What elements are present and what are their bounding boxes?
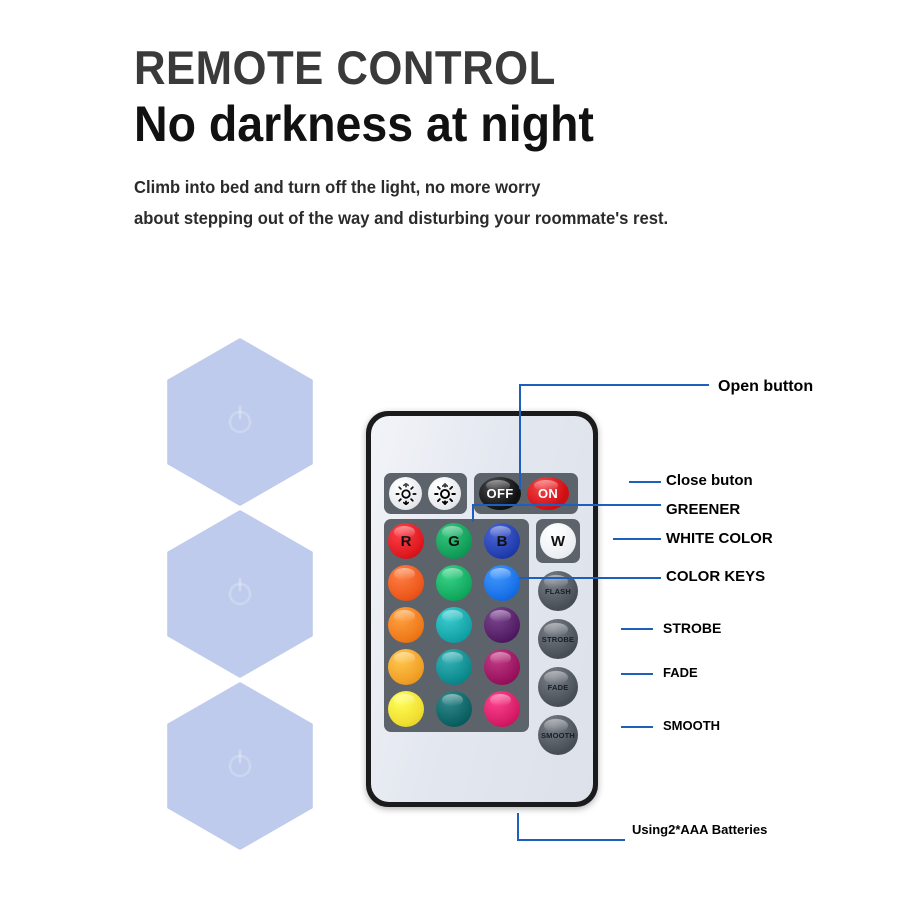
annotation-fade: FADE <box>663 666 698 679</box>
body-line-2: about stepping out of the way and distur… <box>134 203 818 234</box>
brightness-down-button[interactable] <box>389 477 422 510</box>
remote-control: OFF ON RGB W FLASH STROBE FADE SMOOTH <box>366 411 598 807</box>
remote-faceplate: OFF ON RGB W FLASH STROBE FADE SMOOTH <box>371 416 593 802</box>
leader-line-fade <box>621 673 653 675</box>
leader-line-batteries <box>517 839 625 841</box>
sun-dim-icon <box>395 483 417 505</box>
color-key[interactable] <box>436 607 472 643</box>
color-key[interactable] <box>436 565 472 601</box>
annotation-close-button: Close buton <box>666 473 753 488</box>
leader-line-color-keys <box>519 577 661 579</box>
leader-line-close-button <box>629 481 661 483</box>
leader-line-greener <box>472 504 474 522</box>
annotation-white-color: WHITE COLOR <box>666 531 773 546</box>
color-key[interactable] <box>436 649 472 685</box>
leader-line-white-color <box>613 538 661 540</box>
body-text: Climb into bed and turn off the light, n… <box>134 172 854 233</box>
color-key-g[interactable]: G <box>436 523 472 559</box>
sun-bright-icon <box>434 483 456 505</box>
strobe-button[interactable]: STROBE <box>538 619 578 659</box>
annotation-greener: GREENER <box>666 502 740 517</box>
color-key[interactable] <box>388 649 424 685</box>
hex-light-panel <box>167 338 313 506</box>
color-key[interactable] <box>484 607 520 643</box>
smooth-button[interactable]: SMOOTH <box>538 715 578 755</box>
color-key-r[interactable]: R <box>388 523 424 559</box>
annotation-open-button: Open button <box>718 379 813 395</box>
color-key[interactable] <box>484 565 520 601</box>
leader-line-batteries <box>517 813 519 841</box>
hex-light-panel <box>167 682 313 850</box>
leader-line-open-button <box>519 384 709 386</box>
hex-light-panel <box>167 510 313 678</box>
leader-line-smooth <box>621 726 653 728</box>
header: REMOTE CONTROL No darkness at night Clim… <box>134 44 854 234</box>
leader-line-open-button <box>519 384 521 489</box>
color-key[interactable] <box>484 649 520 685</box>
body-line-1: Climb into bed and turn off the light, n… <box>134 172 818 203</box>
brightness-up-button[interactable] <box>428 477 461 510</box>
color-key[interactable] <box>388 565 424 601</box>
color-key[interactable] <box>388 691 424 727</box>
page-subtitle: No darkness at night <box>134 98 804 151</box>
leader-line-strobe <box>621 628 653 630</box>
white-color-button[interactable]: W <box>540 523 576 559</box>
leader-line-greener <box>472 504 661 506</box>
color-key[interactable] <box>436 691 472 727</box>
annotation-color-keys: COLOR KEYS <box>666 569 765 584</box>
page-title: REMOTE CONTROL <box>134 44 804 92</box>
annotation-smooth: SMOOTH <box>663 719 720 732</box>
annotation-strobe: STROBE <box>663 621 721 635</box>
color-key-b[interactable]: B <box>484 523 520 559</box>
color-key[interactable] <box>484 691 520 727</box>
fade-button[interactable]: FADE <box>538 667 578 707</box>
annotation-batteries: Using2*AAA Batteries <box>632 823 767 836</box>
infographic-page: REMOTE CONTROL No darkness at night Clim… <box>0 0 900 900</box>
color-key[interactable] <box>388 607 424 643</box>
